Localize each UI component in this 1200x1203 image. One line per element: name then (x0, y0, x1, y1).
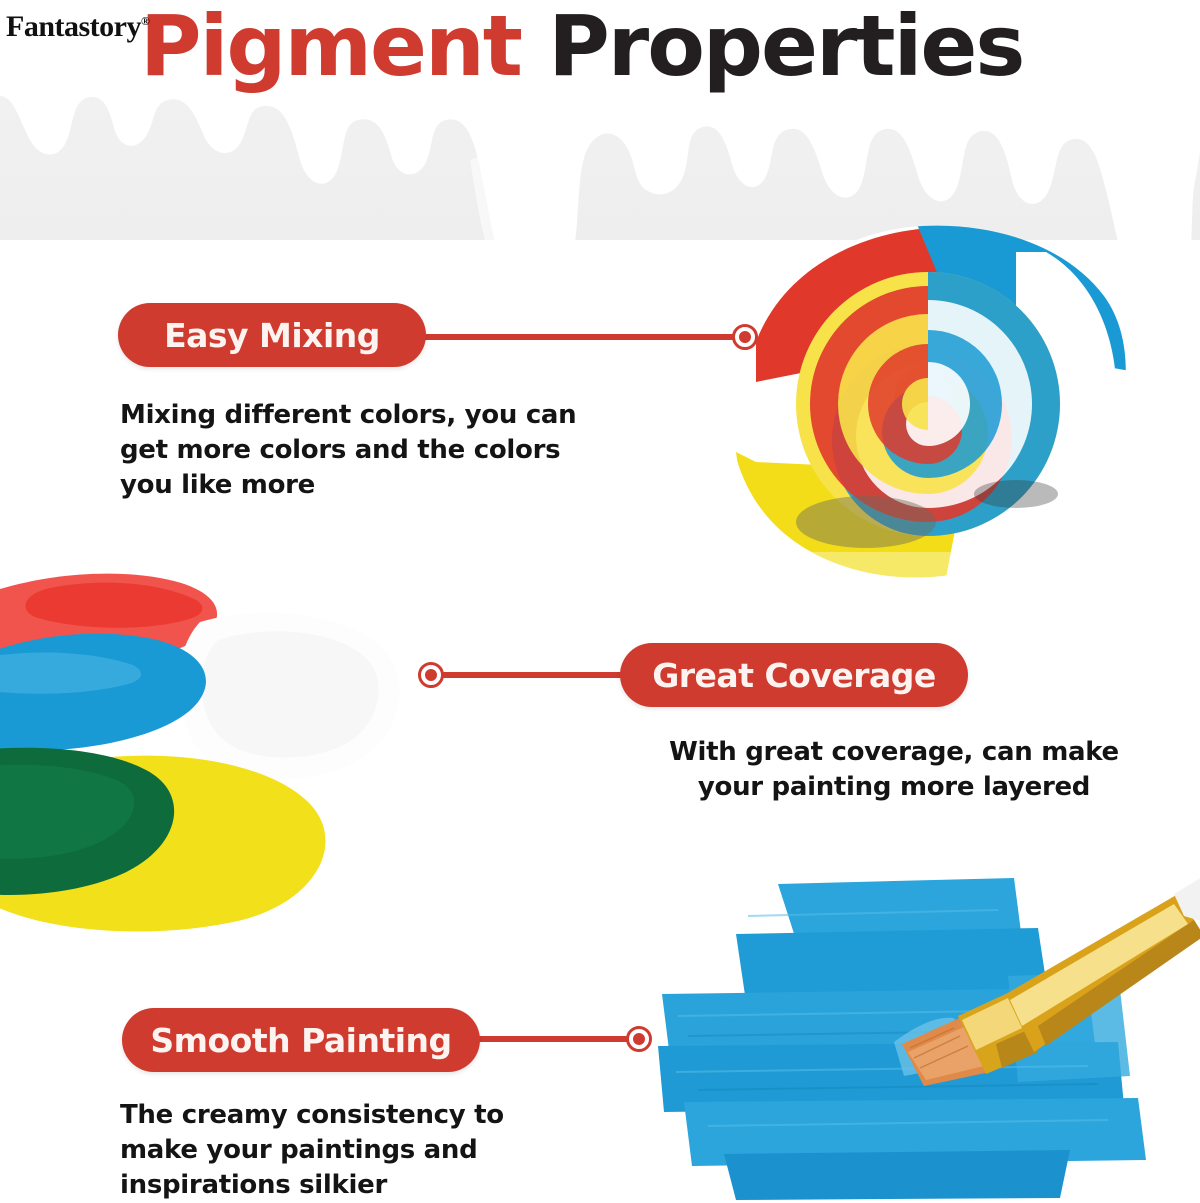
header-band: Fantastory® Pigment Properties (0, 0, 1200, 240)
feature-body-great-coverage: With great coverage, can make your paint… (624, 735, 1164, 805)
connector-endpoint-2 (418, 662, 444, 688)
page-title: Pigment Properties (140, 0, 1023, 94)
page-title-properties: Properties (548, 0, 1023, 95)
feature-body-smooth-painting: The creamy consistency to make your pain… (120, 1098, 590, 1203)
brand-logo-text: Fantastory (6, 10, 141, 43)
brand-logo: Fantastory® (6, 10, 149, 44)
registered-mark-icon: ® (141, 14, 149, 28)
feature-pill-label-smooth-painting: Smooth Painting (150, 1021, 451, 1060)
page-title-pigment: Pigment (140, 0, 521, 95)
feature-pill-label-easy-mixing: Easy Mixing (164, 316, 380, 355)
feature-pill-smooth-painting[interactable]: Smooth Painting (122, 1008, 480, 1072)
connector-line-1 (400, 334, 748, 340)
connector-endpoint-1 (732, 324, 758, 350)
connector-line-2 (436, 672, 651, 678)
feature-pill-easy-mixing[interactable]: Easy Mixing (118, 303, 426, 367)
feature-image-easy-mixing (716, 222, 1136, 582)
feature-body-easy-mixing: Mixing different colors, you can get mor… (120, 398, 640, 503)
feature-image-smooth-painting (618, 876, 1200, 1200)
feature-pill-great-coverage[interactable]: Great Coverage (620, 643, 968, 707)
feature-image-great-coverage (0, 548, 400, 932)
connector-endpoint-3 (626, 1026, 652, 1052)
feature-pill-label-great-coverage: Great Coverage (652, 656, 936, 695)
